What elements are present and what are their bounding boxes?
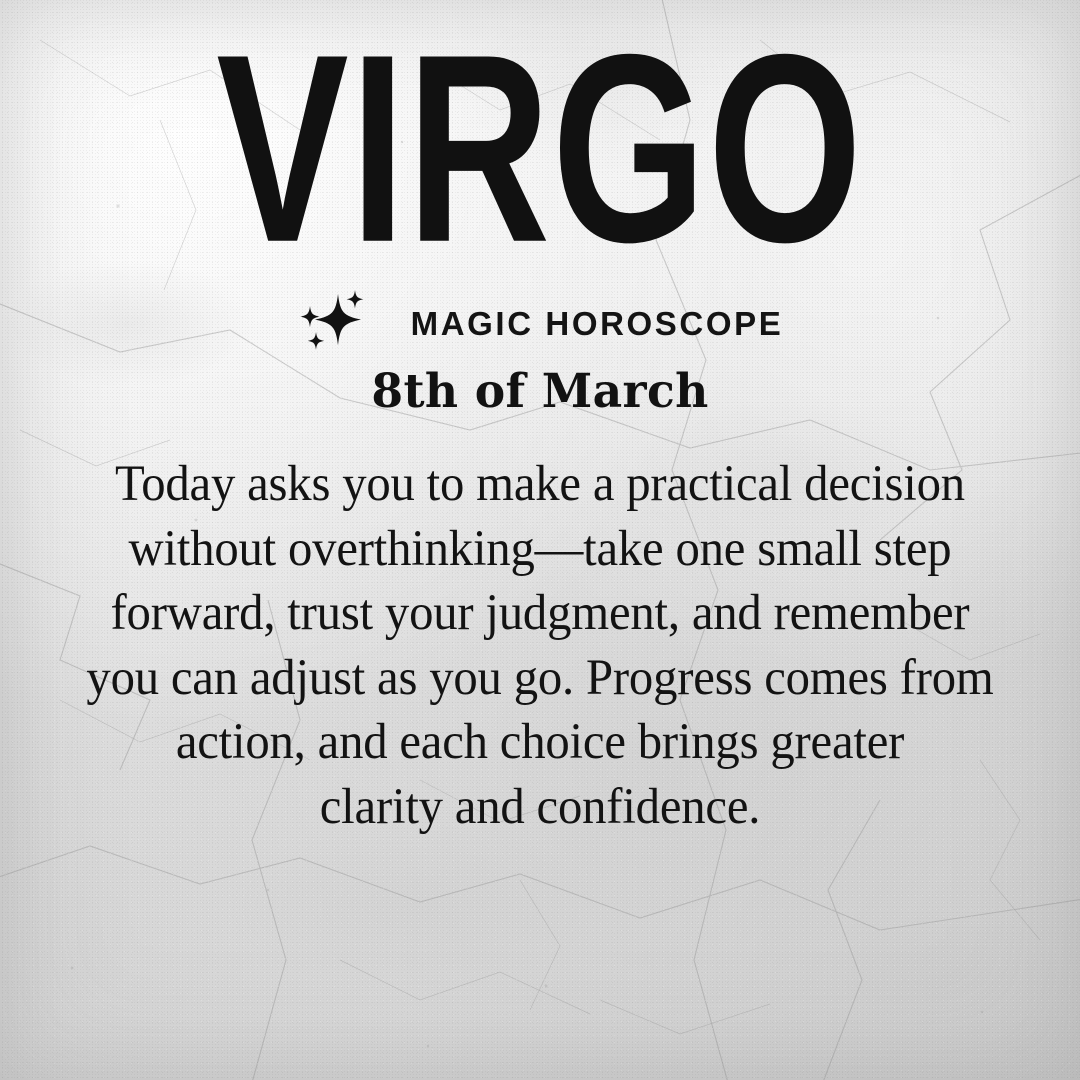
page-title: VIRGO <box>108 14 972 282</box>
horoscope-line: action, and each choice brings greater <box>41 710 1038 775</box>
card-content: VIRGO MAGIC HOROSCOPE 8th of March Today… <box>0 0 1080 1080</box>
horoscope-line: forward, trust your judgment, and rememb… <box>41 581 1038 646</box>
horoscope-line: Today asks you to make a practical decis… <box>41 452 1038 517</box>
sparkle-star-icon <box>297 288 371 359</box>
brand-label: MAGIC HOROSCOPE <box>411 305 784 343</box>
brand-row: MAGIC HOROSCOPE <box>0 288 1080 359</box>
horoscope-line: you can adjust as you go. Progress comes… <box>41 646 1038 711</box>
horoscope-card: VIRGO MAGIC HOROSCOPE 8th of March Today… <box>0 0 1080 1080</box>
horoscope-text: Today asks you to make a practical decis… <box>41 452 1038 839</box>
horoscope-line: without overthinking—take one small step <box>41 517 1038 582</box>
horoscope-line: clarity and confidence. <box>41 775 1038 840</box>
horoscope-date: 8th of March <box>16 364 1064 420</box>
